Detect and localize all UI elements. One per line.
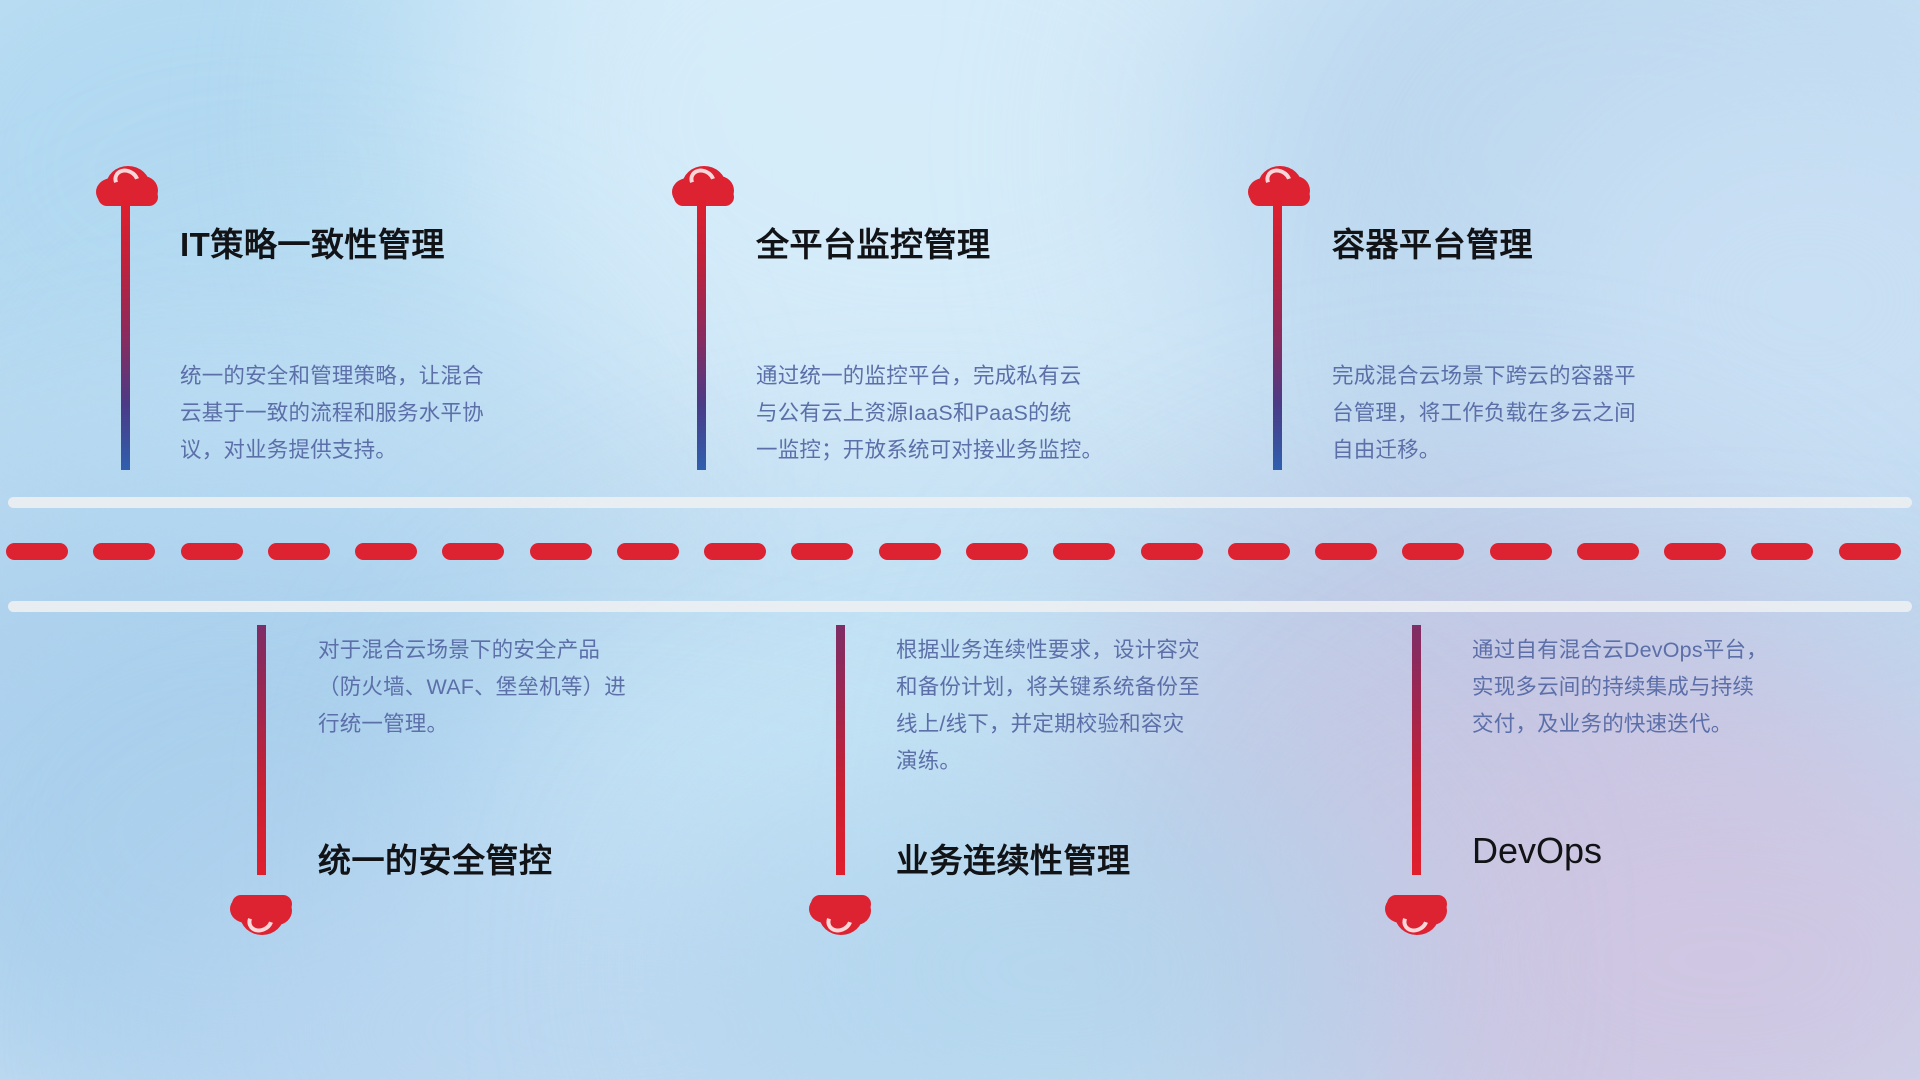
- road-dash: [6, 543, 68, 560]
- road-dash: [1228, 543, 1290, 560]
- cloud-icon: [1385, 893, 1449, 941]
- road-dashes: [0, 543, 1920, 560]
- road-dash: [181, 543, 243, 560]
- card-body: 对于混合云场景下的安全产品 （防火墙、WAF、堡垒机等）进 行统一管理。: [318, 632, 748, 743]
- road-dash: [1315, 543, 1377, 560]
- connector-stem: [836, 625, 845, 875]
- card-body: 根据业务连续性要求，设计容灾 和备份计划，将关键系统备份至 线上/线下，并定期校…: [896, 632, 1326, 780]
- road-dash: [1839, 543, 1901, 560]
- card-title: DevOps: [1472, 830, 1602, 872]
- road-dash: [355, 543, 417, 560]
- card-body: 通过自有混合云DevOps平台， 实现多云间的持续集成与持续 交付，及业务的快速…: [1472, 632, 1902, 743]
- connector-stem: [1273, 200, 1282, 470]
- card-body: 通过统一的监控平台，完成私有云 与公有云上资源IaaS和PaaS的统 一监控；开…: [756, 358, 1206, 469]
- road-dash: [966, 543, 1028, 560]
- card-body: 完成混合云场景下跨云的容器平 台管理，将工作负载在多云之间 自由迁移。: [1332, 358, 1782, 469]
- card-body: 统一的安全和管理策略，让混合 云基于一致的流程和服务水平协 议，对业务提供支持。: [180, 358, 610, 469]
- road-dash: [1490, 543, 1552, 560]
- cloud-icon: [809, 893, 873, 941]
- road-dash: [617, 543, 679, 560]
- road-dash: [791, 543, 853, 560]
- road-line-top: [8, 497, 1912, 508]
- road-line-bottom: [8, 601, 1912, 612]
- road-dash: [1577, 543, 1639, 560]
- road-dash: [1751, 543, 1813, 560]
- road-dash: [1402, 543, 1464, 560]
- connector-stem: [257, 625, 266, 875]
- road-dash: [442, 543, 504, 560]
- road-dash: [530, 543, 592, 560]
- connector-stem: [1412, 625, 1421, 875]
- card-title: IT策略一致性管理: [180, 218, 445, 266]
- connector-stem: [121, 200, 130, 470]
- infographic-canvas: IT策略一致性管理 统一的安全和管理策略，让混合 云基于一致的流程和服务水平协 …: [0, 0, 1920, 1080]
- road-dash: [1141, 543, 1203, 560]
- card-title: 业务连续性管理: [896, 834, 1131, 882]
- card-title: 统一的安全管控: [318, 834, 553, 882]
- road-dash: [1053, 543, 1115, 560]
- road-dash: [93, 543, 155, 560]
- road-dash: [268, 543, 330, 560]
- card-title: 全平台监控管理: [756, 218, 991, 266]
- card-title: 容器平台管理: [1332, 218, 1533, 266]
- road-dash: [1664, 543, 1726, 560]
- road-dash: [704, 543, 766, 560]
- road-dash: [879, 543, 941, 560]
- cloud-icon: [230, 893, 294, 941]
- connector-stem: [697, 200, 706, 470]
